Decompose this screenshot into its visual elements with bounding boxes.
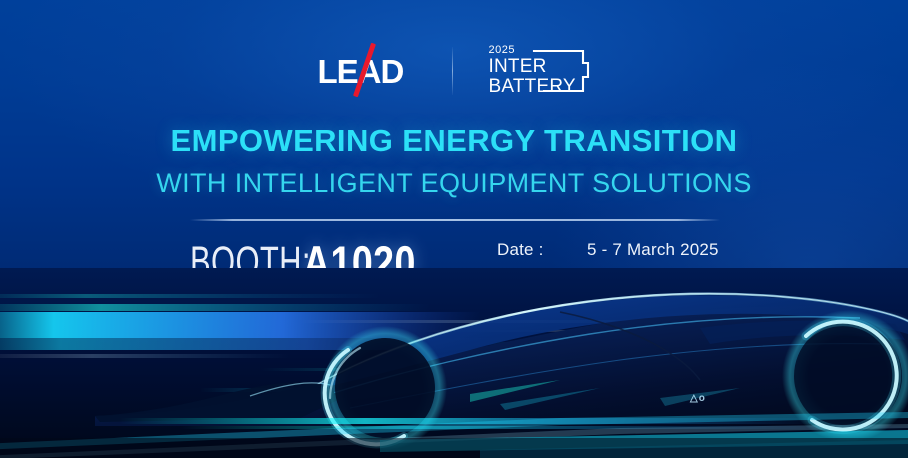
car-badge: △o	[689, 393, 706, 404]
detail-row-date: Date : 5 - 7 March 2025	[497, 240, 728, 269]
event-promo-banner: LEAD 2025 INTER BATTERY EMPOWERING ENERG…	[0, 0, 908, 458]
interbattery-logo: 2025 INTER BATTERY	[487, 44, 591, 98]
interbattery-line1: INTER	[489, 57, 547, 76]
lead-logo: LEAD	[318, 48, 418, 94]
car-scene-svg: △o	[0, 268, 908, 458]
subheadline: WITH INTELLIGENT EQUIPMENT SOLUTIONS	[0, 168, 908, 198]
section-divider	[190, 219, 720, 221]
car-artwork: △o	[0, 268, 908, 458]
date-label: Date :	[497, 240, 587, 260]
interbattery-year: 2025	[489, 45, 515, 56]
interbattery-line2: BATTERY	[489, 77, 576, 96]
date-value: 5 - 7 March 2025	[587, 240, 719, 260]
svg-text:△o: △o	[689, 393, 706, 404]
logo-row: LEAD 2025 INTER BATTERY	[0, 44, 908, 98]
headline: EMPOWERING ENERGY TRANSITION	[0, 124, 908, 158]
logo-separator	[452, 47, 453, 95]
